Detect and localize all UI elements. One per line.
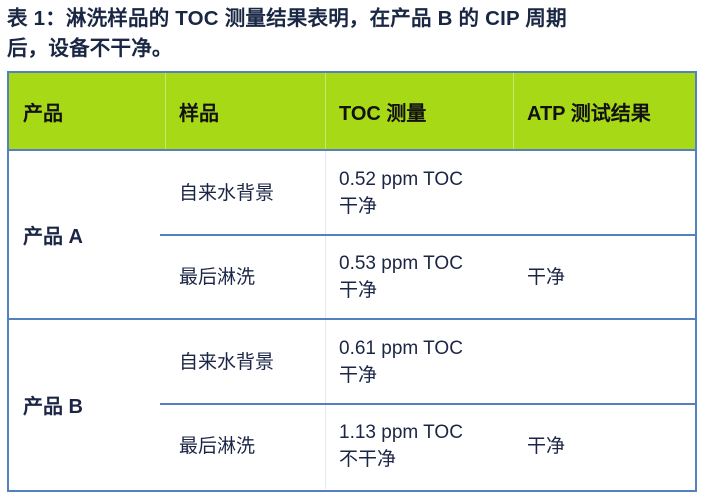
column-header-product: 产品 [23,73,63,149]
toc-verdict: 干净 [339,277,519,304]
cell-toc: 0.61 ppm TOC 干净 [339,320,519,404]
cell-atp: 干净 [527,404,687,488]
toc-verdict: 干净 [339,193,519,220]
cell-atp: 干净 [527,235,687,319]
toc-verdict: 不干净 [339,446,519,473]
header-divider-2 [325,73,326,149]
table-row: 自来水背景 0.52 ppm TOC 干净 [9,151,695,235]
cell-toc: 0.52 ppm TOC 干净 [339,151,519,235]
table-header-row: 产品 样品 TOC 测量 ATP 测试结果 [9,73,695,151]
table-body: 产品 A 自来水背景 0.52 ppm TOC 干净 最后淋洗 0.53 ppm… [9,151,695,490]
cell-sample: 自来水背景 [179,151,329,235]
cell-toc: 1.13 ppm TOC 不干净 [339,404,519,488]
toc-value: 0.53 ppm TOC [339,250,519,277]
toc-value: 1.13 ppm TOC [339,419,519,446]
table-row: 自来水背景 0.61 ppm TOC 干净 [9,320,695,404]
toc-value: 0.52 ppm TOC [339,166,519,193]
table-row: 最后淋洗 1.13 ppm TOC 不干净 干净 [9,404,695,488]
cell-toc: 0.53 ppm TOC 干净 [339,235,519,319]
table-caption: 表 1：淋洗样品的 TOC 测量结果表明，在产品 B 的 CIP 周期 后，设备… [7,4,701,64]
cell-atp [527,320,687,404]
header-divider-1 [165,73,166,149]
results-table: 产品 样品 TOC 测量 ATP 测试结果 产品 A 自来水背景 0.52 pp… [7,71,697,492]
toc-verdict: 干净 [339,362,519,389]
column-header-sample: 样品 [179,73,219,149]
product-group-a: 产品 A 自来水背景 0.52 ppm TOC 干净 最后淋洗 0.53 ppm… [9,151,695,320]
cell-sample: 最后淋洗 [179,235,329,319]
column-header-atp: ATP 测试结果 [527,73,651,149]
toc-value: 0.61 ppm TOC [339,335,519,362]
cell-atp [527,151,687,235]
cell-sample: 最后淋洗 [179,404,329,488]
table-row: 最后淋洗 0.53 ppm TOC 干净 干净 [9,235,695,319]
header-divider-3 [513,73,514,149]
cell-sample: 自来水背景 [179,320,329,404]
column-header-toc: TOC 测量 [339,73,426,149]
product-group-b: 产品 B 自来水背景 0.61 ppm TOC 干净 最后淋洗 1.13 ppm… [9,320,695,489]
